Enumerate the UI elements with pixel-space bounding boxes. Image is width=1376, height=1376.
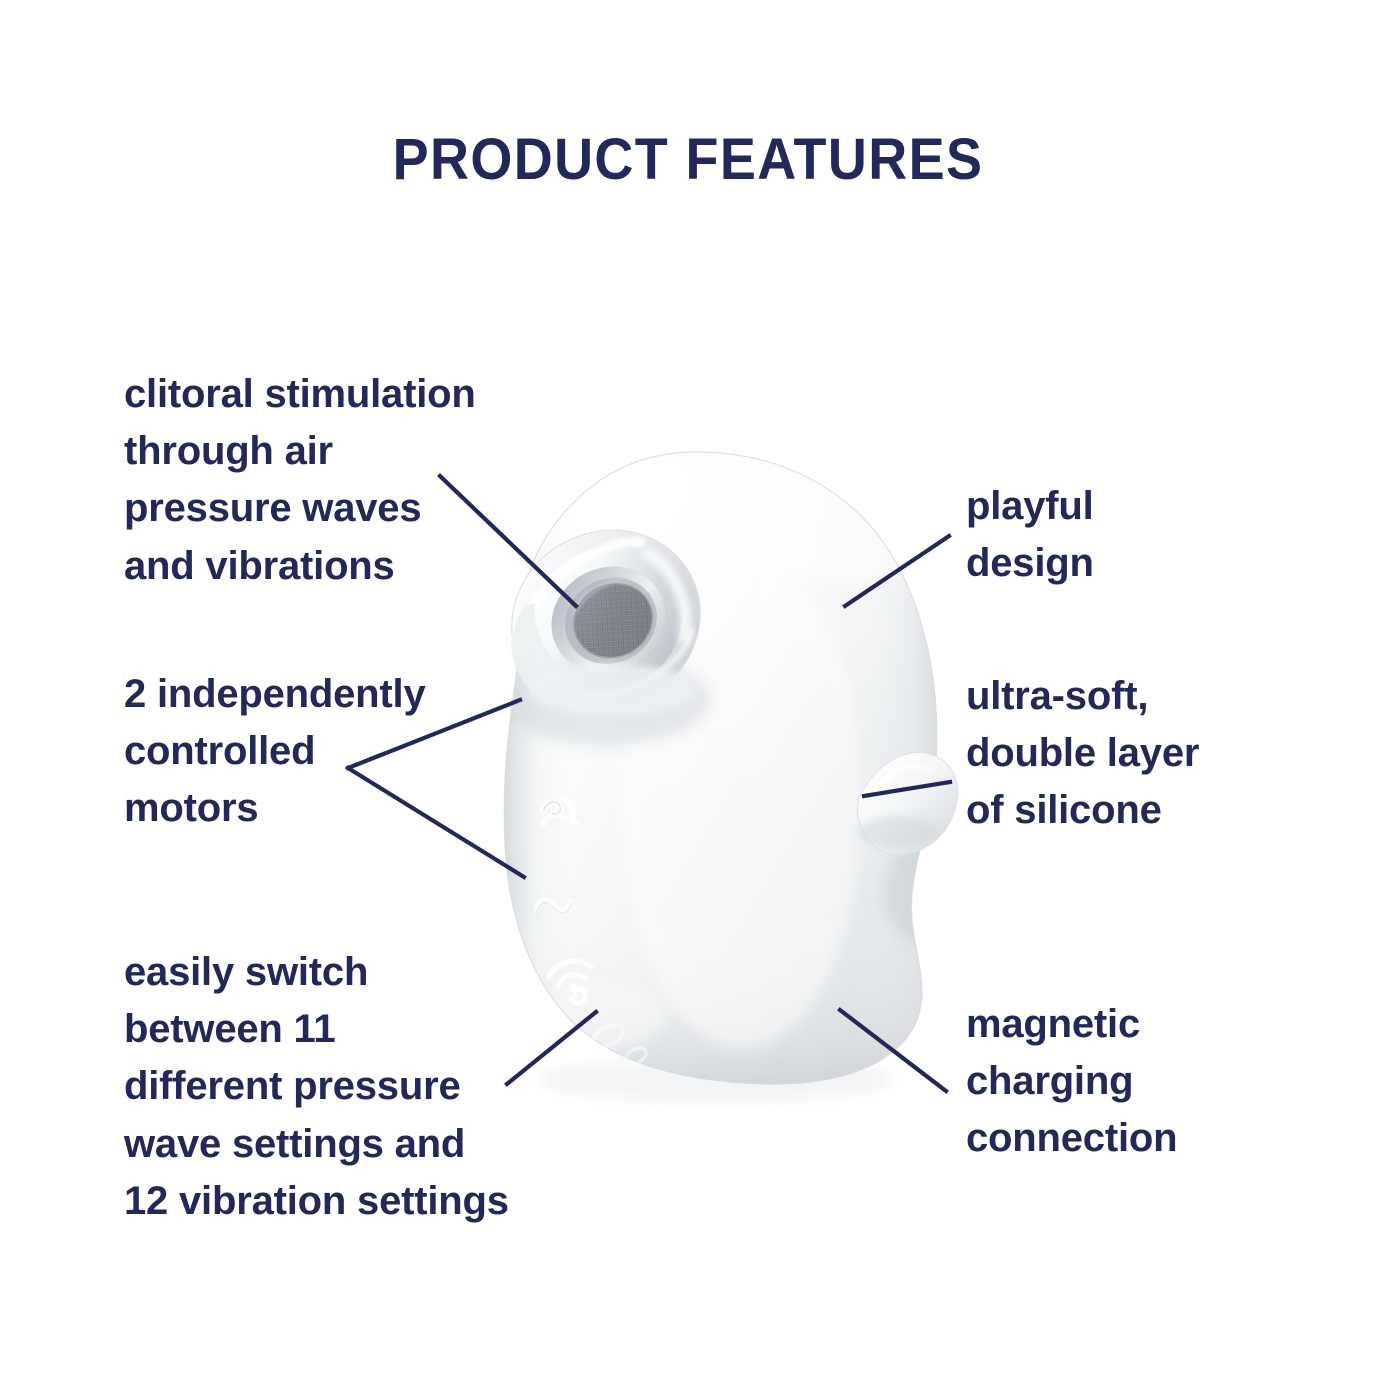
air-pulse-button-icon[interactable]: [540, 797, 580, 833]
vibration-wave-button-icon[interactable]: [534, 895, 572, 917]
leader-line-playful: [845, 536, 949, 606]
callout-clitoral-stimulation: clitoral stimulation through air pressur…: [124, 366, 524, 595]
product-shadow: [538, 1058, 894, 1102]
leader-line-silicone: [864, 782, 950, 796]
callout-magnetic-charging: magnetic charging connection: [966, 996, 1306, 1168]
page-title: PRODUCT FEATURES: [48, 126, 1328, 193]
callout-independent-motors: 2 independently controlled motors: [124, 666, 524, 838]
callout-ultra-soft-silicone: ultra-soft, double layer of silicone: [966, 668, 1306, 840]
callout-playful-design: playful design: [966, 478, 1296, 592]
nozzle-base: [528, 664, 696, 716]
product-features-infographic: PRODUCT FEATURES: [0, 0, 1376, 1376]
leader-line-magnetic: [840, 1010, 946, 1091]
silicone-bump: [858, 753, 958, 855]
callout-pressure-and-vibration-settings: easily switch between 11 different press…: [124, 944, 564, 1230]
magnetic-charging-port: [590, 1021, 649, 1068]
